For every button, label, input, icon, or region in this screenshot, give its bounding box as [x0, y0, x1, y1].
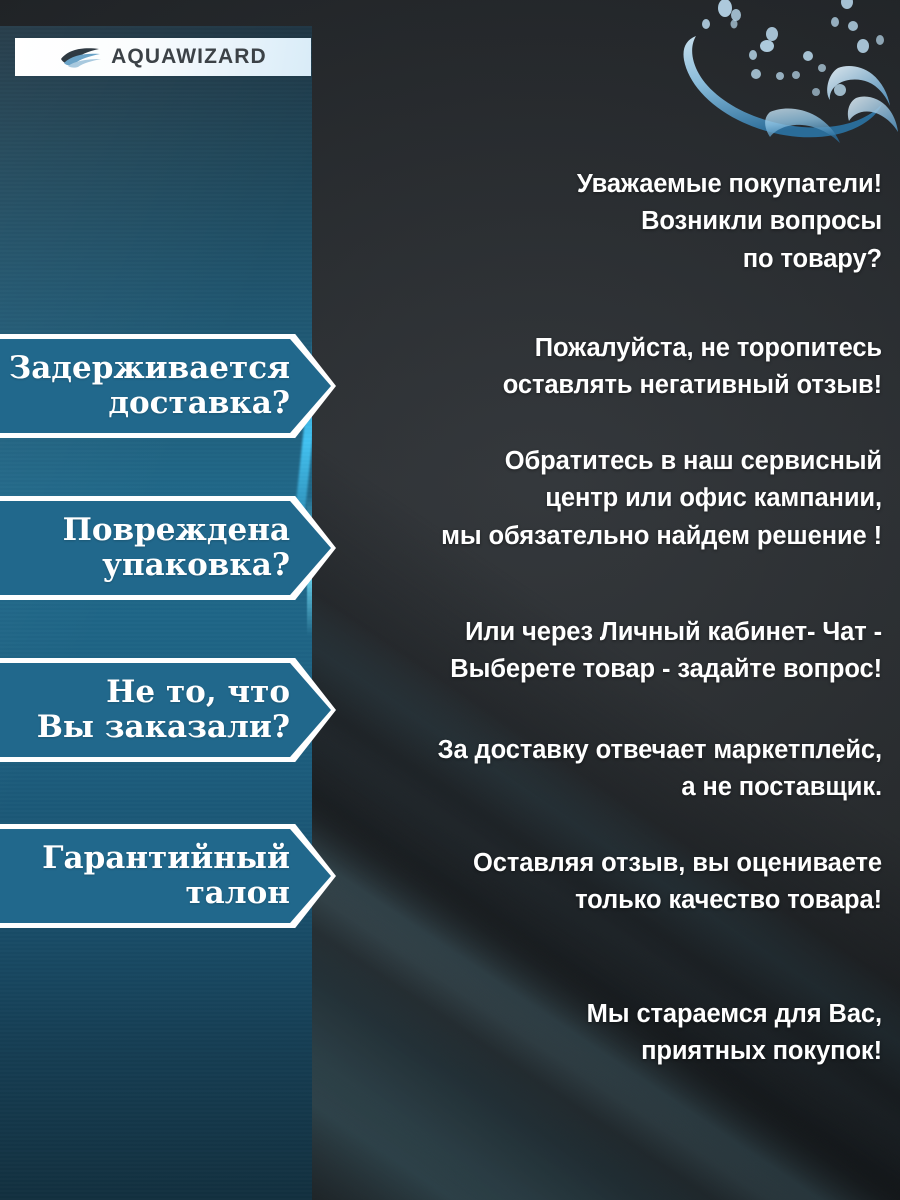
paragraph-review-quality: Оставляя отзыв, вы оцениваете только кач… [330, 845, 882, 920]
tab-label: Задерживается доставка? [0, 351, 336, 420]
paragraph-no-rush: Пожалуйста, не торопитесь оставлять нега… [330, 330, 882, 405]
tab-label: Повреждена упаковка? [53, 513, 336, 582]
promo-poster: AQUAWIZARD Задерживается доставка? Повре… [0, 0, 900, 1200]
tab-delivery-delayed[interactable]: Задерживается доставка? [0, 334, 336, 438]
brand-logo[interactable]: AQUAWIZARD [15, 38, 311, 76]
paragraph-closing: Мы стараемся для Вас, приятных покупок! [330, 996, 882, 1071]
paragraph-chat: Или через Личный кабинет- Чат - Выберете… [330, 614, 882, 689]
paragraph-greeting: Уважаемые покупатели! Возникли вопросы п… [330, 166, 882, 278]
brand-logo-text: AQUAWIZARD [111, 45, 267, 69]
tab-label: Гарантийный талон [32, 841, 336, 910]
tab-warranty-card[interactable]: Гарантийный талон [0, 824, 336, 928]
paragraph-service-center: Обратитесь в наш сервисный центр или офи… [330, 443, 882, 555]
tab-label: Не то, что Вы заказали? [27, 675, 336, 744]
message-column: Уважаемые покупатели! Возникли вопросы п… [330, 0, 900, 1200]
left-accent-panel [0, 26, 312, 1200]
wave-icon [59, 46, 103, 68]
tab-damaged-packaging[interactable]: Повреждена упаковка? [0, 496, 336, 600]
paragraph-marketplace: За доставку отвечает маркетплейс, а не п… [330, 732, 882, 807]
tab-wrong-item[interactable]: Не то, что Вы заказали? [0, 658, 336, 762]
